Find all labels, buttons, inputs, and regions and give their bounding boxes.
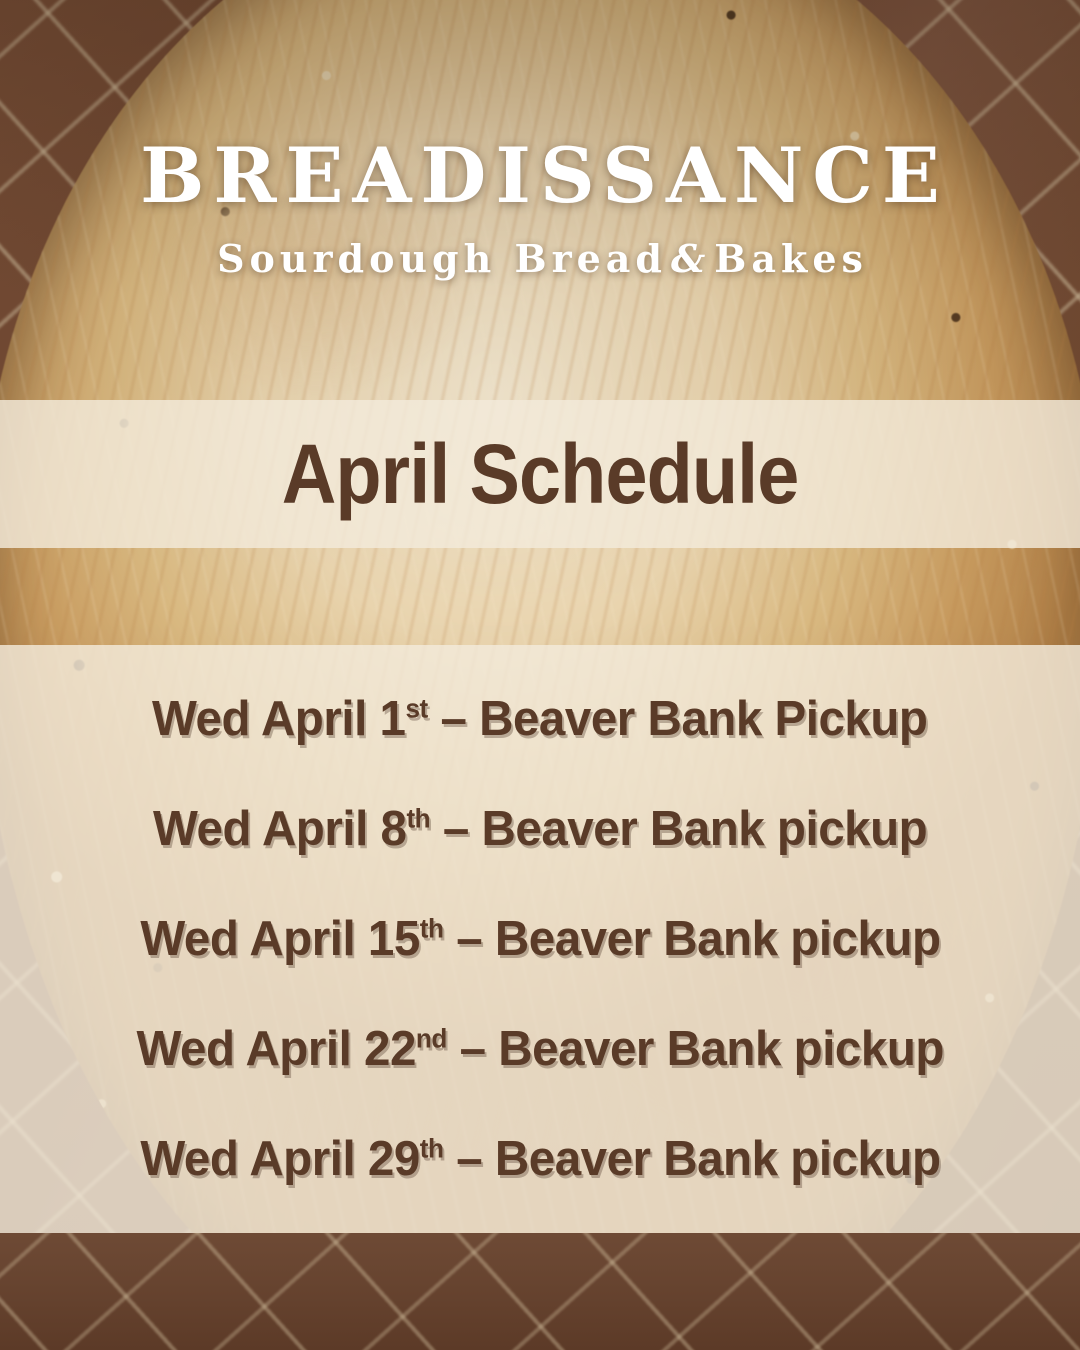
schedule-entry-1: Wed April 1st – Beaver Bank Pickup xyxy=(152,695,927,744)
list-item: Wed April 29th – Beaver Bank pickup xyxy=(0,1104,1080,1214)
list-item: Wed April 8th – Beaver Bank pickup xyxy=(0,774,1080,884)
brand-logo: BREADISSANCE Sourdough Bread&Bakes xyxy=(0,138,1080,281)
ordinal-suffix: nd xyxy=(416,1023,447,1053)
schedule-entry-5: Wed April 29th – Beaver Bank pickup xyxy=(140,1135,940,1184)
brand-tagline: Sourdough Bread&Bakes xyxy=(0,236,1080,281)
ordinal-suffix: th xyxy=(406,803,430,833)
bottom-bar xyxy=(0,1233,1080,1350)
ordinal-suffix: st xyxy=(406,693,428,723)
list-item: Wed April 22nd – Beaver Bank pickup xyxy=(0,994,1080,1104)
ordinal-suffix: th xyxy=(419,913,443,943)
title-band: April Schedule xyxy=(0,400,1080,548)
tagline-part-one: Sourdough Bread xyxy=(217,236,667,281)
brand-name: BREADISSANCE xyxy=(0,138,1080,214)
schedule-list: Wed April 1st – Beaver Bank Pickup Wed A… xyxy=(0,645,1080,1233)
list-item: Wed April 1st – Beaver Bank Pickup xyxy=(0,664,1080,774)
schedule-entry-3: Wed April 15th – Beaver Bank pickup xyxy=(140,915,940,964)
ampersand-glyph: & xyxy=(667,236,714,281)
poster: BREADISSANCE Sourdough Bread&Bakes April… xyxy=(0,0,1080,1350)
tagline-part-two: Bakes xyxy=(714,236,868,281)
page-title: April Schedule xyxy=(282,432,799,516)
list-item: Wed April 15th – Beaver Bank pickup xyxy=(0,884,1080,994)
schedule-entry-4: Wed April 22nd – Beaver Bank pickup xyxy=(136,1025,943,1074)
schedule-entry-2: Wed April 8th – Beaver Bank pickup xyxy=(153,805,927,854)
ordinal-suffix: th xyxy=(419,1133,443,1163)
